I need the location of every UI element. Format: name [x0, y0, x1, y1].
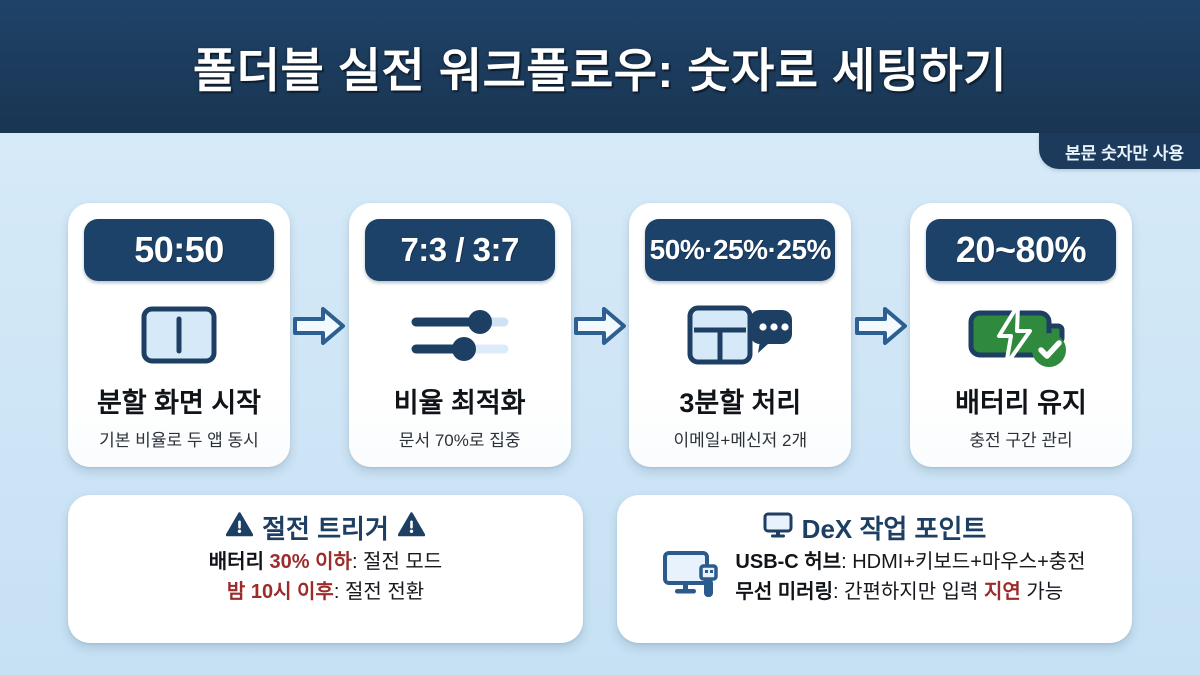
step-badge-2: 7:3 / 3:7 [365, 219, 555, 281]
panel-line-2-2: 무선 미러링: 간편하지만 입력 지연 가능 [735, 579, 1085, 605]
panel-header-2: DeX 작업 포인트 [763, 509, 987, 545]
panel-body-2: USB-C 허브: HDMI+키보드+마우스+충전 무선 미러링: 간편하지만 … [663, 549, 1085, 606]
warning-triangle-icon-right [398, 512, 425, 542]
sliders-icon [410, 295, 510, 375]
step-badge-label-1: 50:50 [134, 229, 224, 271]
step-title-1: 분할 화면 시작 [97, 381, 261, 420]
step-title-2: 비율 최적화 [394, 381, 526, 420]
workflow-steps: 50:50 분할 화면 시작 기본 비율로 두 앱 동시 7:3 / 3:7 [68, 200, 1132, 470]
step-card-3[interactable]: 50%·25%·25% 3분할 처리 이메일+메신저 2개 [629, 203, 851, 467]
monitor-usb-icon [663, 550, 725, 605]
step-badge-1: 50:50 [84, 219, 274, 281]
dex-1-label: USB-C 허브 [735, 551, 841, 573]
split-screen-icon [140, 295, 218, 375]
trigger-1-value: 30% 이하 [270, 551, 352, 573]
panel-title-2: DeX 작업 포인트 [802, 509, 987, 546]
trigger-1-label: 배터리 [209, 551, 264, 573]
page-title: 폴더블 실전 워크플로우: 숫자로 세팅하기 [193, 32, 1007, 101]
step-badge-label-4: 20~80% [956, 229, 1086, 271]
battery-charging-check-icon [966, 295, 1076, 375]
step-badge-4: 20~80% [926, 219, 1116, 281]
step-subtitle-1: 기본 비율로 두 앱 동시 [99, 426, 259, 451]
panel-title-1: 절전 트리거 [262, 509, 389, 546]
step-badge-3: 50%·25%·25% [645, 219, 835, 281]
trigger-1-rest: : 절전 모드 [352, 551, 442, 573]
header-badge: 본문 숫자만 사용 [1039, 133, 1200, 169]
dex-2-rest: : 간편하지만 입력 [833, 581, 984, 603]
panel-power-save-triggers: 절전 트리거 배터리 30% 이하: 절전 모드 밤 10시 이후: 절전 전환 [68, 495, 583, 643]
header-badge-label: 본문 숫자만 사용 [1065, 139, 1184, 164]
panel-lines-1: 배터리 30% 이하: 절전 모드 밤 10시 이후: 절전 전환 [209, 549, 442, 606]
warning-triangle-icon-left [226, 512, 253, 542]
panel-line-1-2: 밤 10시 이후: 절전 전환 [209, 579, 442, 605]
dex-1-rest: : HDMI+키보드+마우스+충전 [841, 551, 1085, 573]
step-badge-label-3: 50%·25%·25% [650, 234, 831, 266]
arrow-right-icon-3 [854, 303, 908, 349]
bottom-panels: 절전 트리거 배터리 30% 이하: 절전 모드 밤 10시 이후: 절전 전환 [68, 495, 1132, 645]
arrow-right-icon-1 [292, 303, 346, 349]
panel-line-1-1: 배터리 30% 이하: 절전 모드 [209, 549, 442, 575]
panel-dex-work-points: DeX 작업 포인트 USB-C 허브: HDMI+키보드+마우스+충전 [617, 495, 1132, 643]
step-subtitle-2: 문서 70%로 집중 [399, 426, 521, 451]
step-subtitle-4: 충전 구간 관리 [969, 426, 1072, 451]
arrow-right-icon-2 [573, 303, 627, 349]
step-title-3: 3분할 처리 [679, 381, 801, 420]
step-badge-label-2: 7:3 / 3:7 [400, 231, 518, 269]
step-card-2[interactable]: 7:3 / 3:7 비율 최적화 문서 70%로 집중 [349, 203, 571, 467]
panel-body-1: 배터리 30% 이하: 절전 모드 밤 10시 이후: 절전 전환 [209, 549, 442, 606]
trigger-2-value: 밤 10시 이후 [227, 581, 334, 603]
dex-2-highlight: 지연 [984, 581, 1021, 603]
panel-header-1: 절전 트리거 [226, 509, 425, 545]
step-subtitle-3: 이메일+메신저 2개 [674, 426, 808, 451]
trigger-2-rest: : 절전 전환 [334, 581, 424, 603]
panel-lines-2: USB-C 허브: HDMI+키보드+마우스+충전 무선 미러링: 간편하지만 … [735, 549, 1085, 606]
panel-line-2-1: USB-C 허브: HDMI+키보드+마우스+충전 [735, 549, 1085, 575]
dex-2-label: 무선 미러링 [735, 581, 833, 603]
step-title-4: 배터리 유지 [955, 381, 1087, 420]
infographic-page: 폴더블 실전 워크플로우: 숫자로 세팅하기 본문 숫자만 사용 50:50 분… [0, 0, 1200, 675]
page-header: 폴더블 실전 워크플로우: 숫자로 세팅하기 [0, 0, 1200, 133]
monitor-icon [763, 512, 793, 543]
step-card-4[interactable]: 20~80% 배터리 유지 충전 구간 관리 [910, 203, 1132, 467]
three-pane-chat-icon [686, 295, 794, 375]
dex-2-tail: 가능 [1021, 581, 1063, 603]
step-card-1[interactable]: 50:50 분할 화면 시작 기본 비율로 두 앱 동시 [68, 203, 290, 467]
